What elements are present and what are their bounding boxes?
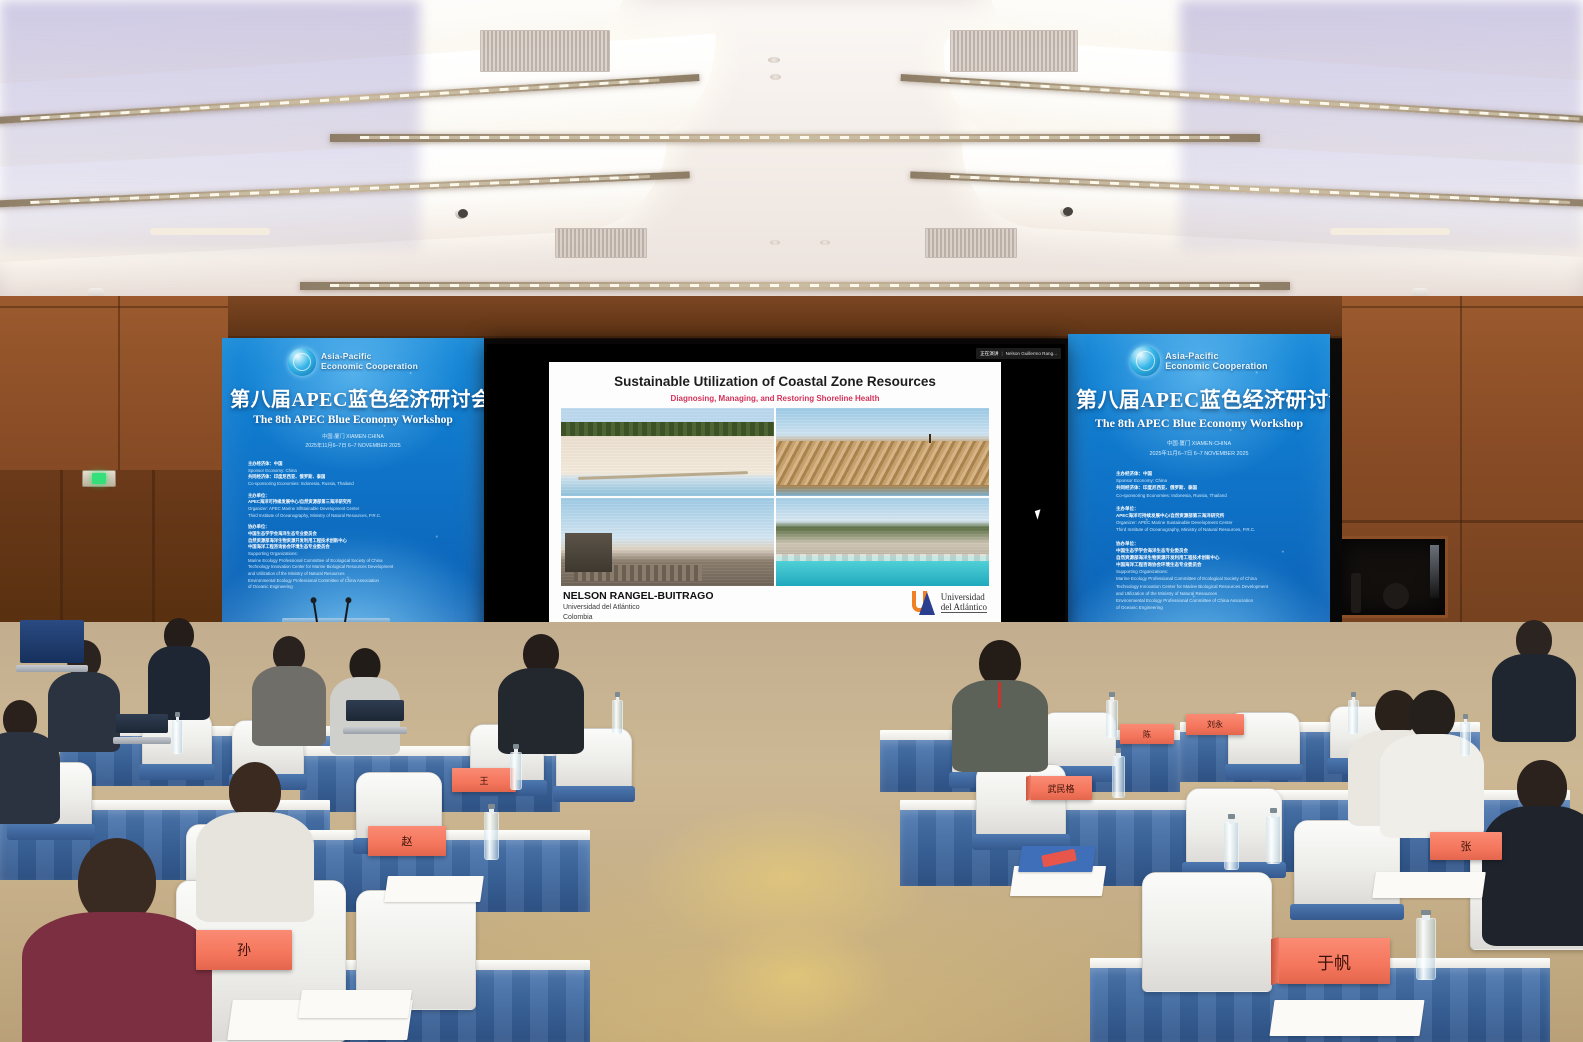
water-bottle	[1460, 722, 1471, 756]
slide-title: Sustainable Utilization of Coastal Zone …	[549, 374, 1001, 389]
banner-block-en: Marine Ecology Professional Committee of…	[1116, 575, 1322, 582]
speaker-tag-separator: |	[1001, 351, 1002, 356]
coastal-photo-driftwood	[776, 408, 989, 496]
speaker-status-label: 正在演讲	[980, 351, 998, 357]
banner-block-en: Organizer: APEC Marine Sustainable Devel…	[1116, 519, 1322, 526]
water-bottle	[1416, 918, 1436, 980]
banner-block-en: Technology Innovation Center for Marine …	[248, 564, 476, 571]
banner-block-en: Supporting Organizations:	[248, 551, 476, 558]
ceiling-vent	[950, 30, 1078, 72]
banner-block-cn: 协办单位：	[1116, 540, 1322, 547]
apec-logo-icon	[288, 348, 316, 376]
name-card: 孙	[196, 930, 292, 970]
speaker-status-tag: 正在演讲 | Nelson Guillermo Rang...	[976, 348, 1061, 359]
name-card-text: 武民格	[1047, 782, 1074, 795]
banner-block-cn: APEC海洋可持续发展中心/自然资源部第三海洋研究所	[1116, 512, 1322, 519]
name-card: 张	[1430, 832, 1502, 860]
name-card: 赵	[368, 826, 446, 856]
banner-block-en: Supporting Organizations:	[1116, 568, 1322, 575]
attendee	[196, 762, 314, 912]
water-bottle	[172, 720, 183, 754]
document-sheet	[1372, 872, 1486, 898]
ua-logo-line2: del Atlántico	[941, 603, 987, 613]
water-bottle	[1266, 816, 1281, 864]
coastal-photo-dune-beach	[561, 408, 774, 496]
banner-location: 中国·厦门 XIAMEN·CHINA	[230, 433, 476, 440]
attendee	[952, 640, 1048, 760]
banner-block-cn: 共同经济体：印度尼西亚、俄罗斯、泰国	[248, 474, 476, 481]
apec-logo-icon	[1130, 346, 1160, 376]
apec-line2: Economic Cooperation	[321, 362, 418, 372]
attendee	[498, 634, 584, 750]
presenter-name: NELSON RANGEL-BUITRAGO	[563, 590, 714, 602]
attendee	[1492, 620, 1576, 736]
document-sheet	[384, 876, 484, 902]
ceiling-vent	[555, 228, 647, 258]
chair	[1042, 712, 1116, 770]
banner-date: 2025年11月6–7日 6–7 NOVEMBER 2025	[1076, 449, 1322, 457]
banner-block-en: Co-sponsoring Economies: Indonesia, Russ…	[1116, 492, 1322, 499]
speaker-name-label: Nelson Guillermo Rang...	[1006, 351, 1057, 356]
ceiling-vent	[925, 228, 1017, 258]
banner-block-cn: 协办单位：	[248, 524, 476, 531]
banner-block-en: Sponsor Economy: China	[248, 468, 476, 475]
banner-block-en: of Oceanic Engineering	[1116, 604, 1322, 611]
banner-block-cn: 中国生态学学会海洋生态专业委员会	[1116, 547, 1322, 554]
slide-subtitle: Diagnosing, Managing, and Restoring Shor…	[549, 394, 1001, 403]
side-monitor	[20, 620, 84, 672]
exit-icon	[92, 473, 106, 484]
water-bottle	[612, 700, 623, 734]
banner-block-en: Organizer: APEC Marine Sustainable Devel…	[248, 506, 476, 513]
banner-block-cn: 主办经济体：中国	[248, 461, 476, 468]
water-bottle	[1348, 700, 1359, 734]
banner-block-en: Technology Innovation Center for Marine …	[1116, 583, 1322, 590]
slide-photo-grid	[561, 408, 989, 586]
banner-block-en: Sponsor Economy: China	[1116, 477, 1322, 484]
banner-block-cn: 自然资源部海洋生物资源开发利用工程技术创新中心	[1116, 554, 1322, 561]
name-card: 刘永	[1186, 714, 1244, 735]
water-bottle	[484, 812, 499, 860]
ceiling	[0, 0, 1583, 300]
laptop	[116, 714, 168, 744]
banner-block-en: Third Institute of Oceanography, Ministr…	[1116, 526, 1322, 533]
banner-block-en: Environmental Ecology Professional Commi…	[1116, 597, 1322, 604]
apec-banner-left: Asia-Pacific Economic Cooperation 第八届APE…	[222, 338, 484, 630]
name-card-text: 赵	[402, 833, 413, 849]
apec-banner-right: Asia-Pacific Economic Cooperation 第八届APE…	[1068, 334, 1330, 654]
banner-block-en: Marine Ecology Professional Committee of…	[248, 558, 476, 565]
banner-block-cn: 中国海洋工程咨询协会环境生态专业委员会	[1116, 561, 1322, 568]
chair	[1142, 872, 1272, 992]
banner-block-cn: 主办单位：	[1116, 505, 1322, 512]
attendee	[1380, 690, 1484, 830]
banner-block-en: Environmental Ecology Professional Commi…	[248, 578, 476, 585]
banner-block-en: Co-sponsoring Economies: Indonesia, Russ…	[248, 481, 476, 488]
banner-block-cn: 共同经济体：印度尼西亚、俄罗斯、泰国	[1116, 484, 1322, 491]
name-card: 王	[452, 768, 516, 792]
water-bottle	[1106, 700, 1118, 738]
attendee	[148, 618, 210, 718]
attendee	[0, 700, 60, 820]
name-card-text: 陈	[1143, 729, 1151, 740]
banner-block-cn: 中国海洋工程咨询协会环境生态专业委员会	[248, 544, 476, 551]
name-card-text: 张	[1461, 838, 1472, 854]
banner-date: 2025年11月6–7日 6–7 NOVEMBER 2025	[230, 442, 476, 449]
name-card-text: 刘永	[1207, 719, 1223, 730]
banner-block-cn: 主办经济体：中国	[1116, 470, 1322, 477]
presenter-affiliation: Universidad del Atlántico	[563, 604, 640, 611]
banner-block-cn: APEC海洋可持续发展中心/自然资源部第三海洋研究所	[248, 499, 476, 506]
banner-title-cn: 第八届APEC蓝色经济研讨会	[1076, 384, 1322, 414]
banner-title-cn: 第八届APEC蓝色经济研讨会	[230, 383, 476, 412]
presenter-country: Colombia	[563, 614, 593, 621]
control-booth-window	[1336, 536, 1448, 618]
exit-sign	[82, 470, 116, 487]
attendee	[252, 636, 326, 744]
universidad-atlantico-logo: Universidad del Atlántico	[912, 590, 987, 616]
apec-line2: Economic Cooperation	[1165, 361, 1268, 371]
wall-left-lower	[0, 470, 230, 630]
ua-shield-icon	[912, 590, 938, 616]
ceiling-vent	[480, 30, 610, 72]
attendee	[22, 838, 212, 1042]
document-sheet	[1269, 1000, 1424, 1036]
name-card-text: 孙	[237, 940, 251, 960]
banner-block-en: of Oceanic Engineering	[248, 584, 476, 591]
apec-line1: Asia-Pacific	[1165, 351, 1268, 361]
mouse-cursor	[1035, 509, 1043, 519]
name-card: 陈	[1120, 724, 1174, 744]
projection-screen: 正在演讲 | Nelson Guillermo Rang... Sustaina…	[487, 344, 1065, 662]
water-bottle	[510, 752, 522, 790]
banner-block-en: and Utilization of the Ministry of Natur…	[1116, 590, 1322, 597]
water-bottle	[1112, 756, 1125, 798]
laptop	[346, 700, 404, 734]
banner-block-cn: 中国生态学学会海洋生态专业委员会	[248, 531, 476, 538]
name-card: 于帆	[1278, 938, 1390, 984]
document-sheet	[298, 990, 412, 1018]
coastal-photo-rocky-shore	[776, 498, 989, 586]
name-card-text: 于帆	[1317, 949, 1351, 974]
conference-room-photo: Asia-Pacific Economic Cooperation 第八届APE…	[0, 0, 1583, 1042]
coastal-photo-groynes	[561, 498, 774, 586]
name-card: 武民格	[1030, 776, 1092, 800]
banner-block-en: Third Institute of Oceanography, Ministr…	[248, 513, 476, 520]
banner-title-en: The 8th APEC Blue Economy Workshop	[230, 414, 476, 426]
banner-title-en: The 8th APEC Blue Economy Workshop	[1076, 416, 1322, 431]
water-bottle	[1224, 822, 1239, 870]
banner-block-en: and Utilization of the Ministry of Natur…	[248, 571, 476, 578]
slide: Sustainable Utilization of Coastal Zone …	[549, 362, 1001, 644]
name-card-text: 王	[479, 774, 488, 787]
banner-location: 中国·厦门 XIAMEN·CHINA	[1076, 439, 1322, 447]
